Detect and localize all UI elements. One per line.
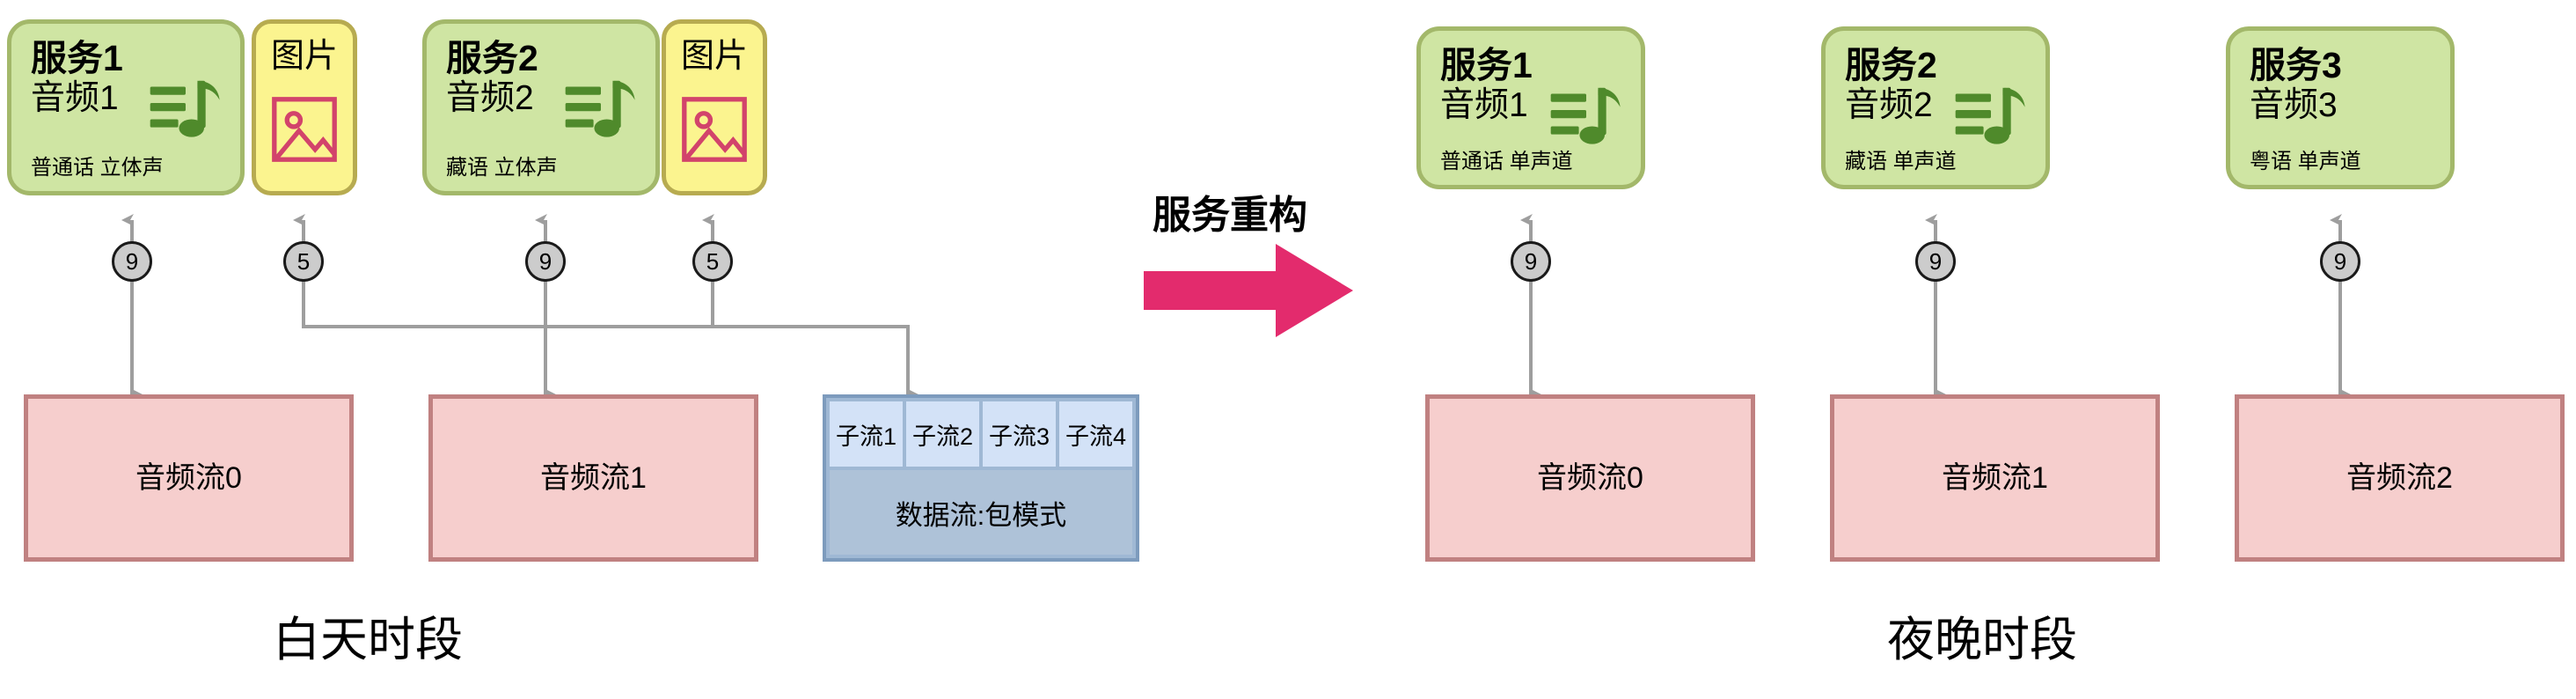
pid-badge-left-svc2: 9 <box>525 241 566 282</box>
data-stream-mode-label: 数据流:包模式 <box>830 470 1132 555</box>
right-arrow-icon <box>1144 242 1355 339</box>
substream-row: 子流1 子流2 子流3 子流4 <box>826 398 1136 467</box>
pid-badge-right-svc1: 9 <box>1511 241 1551 282</box>
audio-stream-box-right-0[interactable]: 音频流0 <box>1425 394 1755 562</box>
pid-badge-left-pic1: 5 <box>283 241 324 282</box>
service-title: 服务3 <box>2250 47 2431 85</box>
service-meta: 藏语 单声道 <box>1845 151 1957 173</box>
picture-title: 图片 <box>271 40 338 73</box>
image-icon <box>681 96 748 163</box>
connector-wires <box>0 0 2576 699</box>
transition-label: 服务重构 <box>1153 183 1307 239</box>
service-subtitle: 音频3 <box>2250 86 2431 125</box>
image-icon <box>271 96 338 163</box>
picture-card-left-2[interactable]: 图片 <box>662 19 767 195</box>
audio-stream-label: 音频流1 <box>1942 463 2048 493</box>
pid-value: 9 <box>1929 250 1942 273</box>
pid-value: 5 <box>706 250 719 273</box>
substream-cell[interactable]: 子流2 <box>906 401 979 467</box>
service-card-left-1[interactable]: 服务1 音频1 普通话 立体声 <box>7 19 245 195</box>
service-card-left-2[interactable]: 服务2 音频2 藏语 立体声 <box>422 19 660 195</box>
pid-value: 9 <box>539 250 552 273</box>
music-note-icon <box>149 70 223 145</box>
audio-stream-box-right-2[interactable]: 音频流2 <box>2235 394 2565 562</box>
substream-cell[interactable]: 子流1 <box>830 401 903 467</box>
service-meta: 普通话 单声道 <box>1440 151 1573 173</box>
wire-pic1-bus <box>304 282 908 394</box>
audio-stream-label: 音频流0 <box>135 463 242 493</box>
audio-stream-label: 音频流2 <box>2346 463 2453 493</box>
service-meta: 藏语 立体声 <box>446 158 558 179</box>
substream-cell[interactable]: 子流3 <box>983 401 1056 467</box>
music-note-icon <box>564 70 638 145</box>
pid-value: 9 <box>2334 250 2346 273</box>
pid-value: 5 <box>297 250 310 273</box>
service-meta: 粤语 单声道 <box>2250 151 2361 173</box>
service-card-right-3[interactable]: 服务3 音频3 粤语 单声道 <box>2226 26 2455 189</box>
pid-badge-left-svc1: 9 <box>112 241 152 282</box>
audio-stream-label: 音频流0 <box>1537 463 1643 493</box>
music-note-icon <box>1549 77 1623 152</box>
pid-badge-left-pic2: 5 <box>692 241 733 282</box>
picture-title: 图片 <box>681 40 748 73</box>
service-card-right-1[interactable]: 服务1 音频1 普通话 单声道 <box>1416 26 1645 189</box>
audio-stream-label: 音频流1 <box>540 463 647 493</box>
pid-value: 9 <box>126 250 138 273</box>
picture-card-left-1[interactable]: 图片 <box>252 19 357 195</box>
audio-stream-box-right-1[interactable]: 音频流1 <box>1830 394 2160 562</box>
music-note-icon <box>1954 77 2028 152</box>
section-caption-left: 白天时段 <box>273 616 463 664</box>
pid-badge-right-svc3: 9 <box>2320 241 2360 282</box>
substream-cell[interactable]: 子流4 <box>1059 401 1132 467</box>
service-card-right-2[interactable]: 服务2 音频2 藏语 单声道 <box>1821 26 2050 189</box>
audio-stream-box-left-1[interactable]: 音频流1 <box>428 394 758 562</box>
audio-stream-box-left-0[interactable]: 音频流0 <box>24 394 354 562</box>
data-stream-box[interactable]: 子流1 子流2 子流3 子流4 数据流:包模式 <box>823 394 1139 562</box>
pid-value: 9 <box>1525 250 1537 273</box>
diagram-canvas: 服务1 音频1 普通话 立体声 图片 服务2 音频2 藏语 立体声 <box>0 0 2576 699</box>
service-meta: 普通话 立体声 <box>31 158 164 179</box>
section-caption-right: 夜晚时段 <box>1887 616 2077 664</box>
pid-badge-right-svc2: 9 <box>1915 241 1956 282</box>
